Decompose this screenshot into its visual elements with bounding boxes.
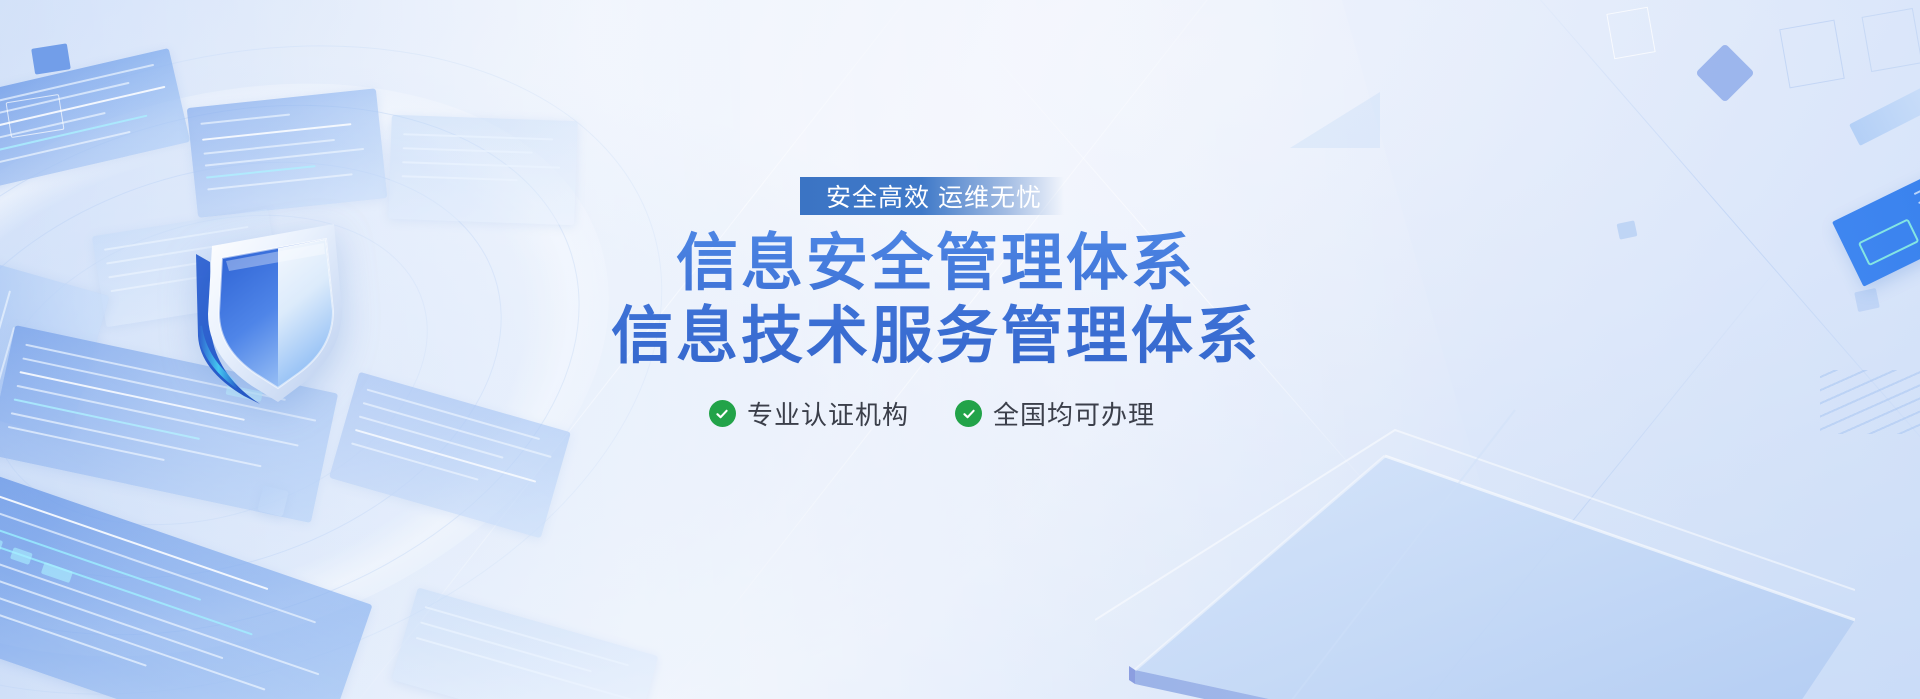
check-circle-icon [955, 400, 982, 427]
tagline-badge: 安全高效 运维无忧 [800, 177, 1064, 215]
feature-item: 专业认证机构 [709, 395, 909, 432]
headline-line-2: 信息技术服务管理体系 [611, 300, 1261, 373]
headline-line-1: 信息安全管理体系 [611, 227, 1261, 300]
feature-label: 全国均可办理 [993, 395, 1155, 432]
feature-list: 专业认证机构 全国均可办理 [709, 395, 1155, 432]
feature-label: 专业认证机构 [747, 395, 909, 432]
check-circle-icon [709, 400, 736, 427]
page-title: 信息安全管理体系 信息技术服务管理体系 [611, 227, 1261, 373]
hero-banner: 安全高效 运维无忧 信息安全管理体系 信息技术服务管理体系 专业认证机构 [0, 0, 1920, 699]
feature-item: 全国均可办理 [955, 395, 1155, 432]
banner-content: 安全高效 运维无忧 信息安全管理体系 信息技术服务管理体系 专业认证机构 [0, 0, 1920, 699]
